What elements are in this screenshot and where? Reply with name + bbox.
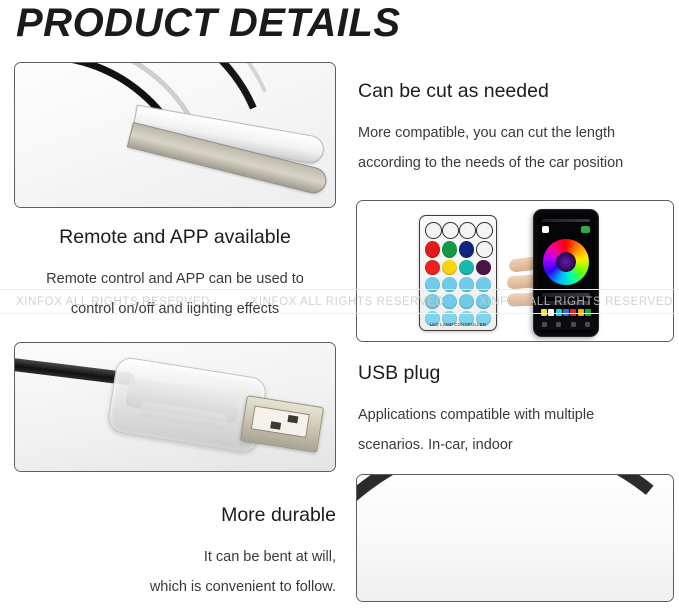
phone-swatch-row-1 (541, 309, 591, 316)
remote-button (425, 277, 440, 292)
remote-button (476, 294, 491, 309)
heading-cut-as-needed: Can be cut as needed (358, 78, 673, 104)
heading-more-durable: More durable (14, 502, 336, 528)
body-usb-plug-line-1: Applications compatible with multiple (358, 400, 673, 430)
remote-button (442, 294, 457, 309)
remote-button (442, 277, 457, 292)
body-cut-as-needed-line-2: according to the needs of the car positi… (358, 148, 673, 178)
photo-more-durable (356, 474, 674, 602)
remote-button (425, 241, 440, 258)
remote-label: LED LAMP CONTROLLER (420, 322, 496, 327)
remote-button (442, 222, 459, 239)
remote-control-graphic: LED LAMP CONTROLLER (419, 215, 497, 331)
remote-button (476, 222, 493, 239)
remote-button (442, 260, 457, 275)
remote-button (476, 260, 491, 275)
remote-button (459, 241, 474, 258)
photo-cut-as-needed (14, 62, 336, 208)
section-text-remote-and-app: Remote and APP available Remote control … (14, 224, 336, 324)
remote-button (459, 277, 474, 292)
remote-button (425, 222, 442, 239)
phone-screen (537, 213, 595, 333)
remote-button (476, 277, 491, 292)
photo-usb-plug (14, 342, 336, 472)
remote-button (459, 294, 474, 309)
remote-button (459, 222, 476, 239)
phone-nav-bar (537, 318, 595, 330)
section-text-cut-as-needed: Can be cut as needed More compatible, yo… (358, 78, 673, 178)
product-details-page: PRODUCT DETAILS Can be cut as needed Mor… (0, 0, 679, 610)
section-text-usb-plug: USB plug Applications compatible with mu… (358, 360, 673, 460)
remote-button (425, 260, 440, 275)
color-wheel-icon (543, 239, 589, 285)
page-title: PRODUCT DETAILS (16, 2, 401, 44)
body-remote-and-app-line-2: control on/off and lighting effects (14, 294, 336, 324)
remote-button (442, 241, 457, 258)
body-cut-as-needed-line-1: More compatible, you can cut the length (358, 118, 673, 148)
photo-remote-and-app: LED LAMP CONTROLLER (356, 200, 674, 342)
heading-usb-plug: USB plug (358, 360, 673, 386)
body-remote-and-app-line-1: Remote control and APP can be used to (14, 264, 336, 294)
body-more-durable-line-1: It can be bent at will, (14, 542, 336, 572)
remote-button (476, 241, 493, 258)
phone-graphic (533, 209, 599, 337)
body-usb-plug-line-2: scenarios. In-car, indoor (358, 430, 673, 460)
heading-remote-and-app: Remote and APP available (14, 224, 336, 250)
remote-button (425, 294, 440, 309)
section-text-more-durable: More durable It can be bent at will, whi… (14, 502, 336, 602)
remote-button (459, 260, 474, 275)
body-more-durable-line-2: which is convenient to follow. (14, 572, 336, 602)
remote-button-grid (425, 222, 491, 326)
